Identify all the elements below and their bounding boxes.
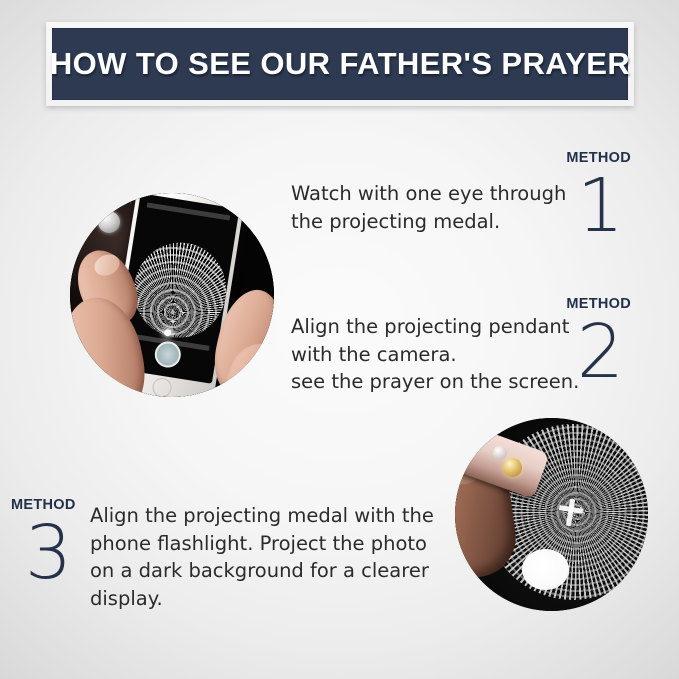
- projecting-medal-icon: [493, 446, 507, 460]
- method-3-number: 3: [25, 519, 72, 587]
- method-1-photo: [70, 193, 274, 397]
- method-1-description: Watch with one eye through the projectin…: [291, 180, 591, 235]
- camera-ui-top-bar: [147, 202, 231, 220]
- earpiece-speaker-icon: [179, 193, 205, 194]
- projecting-medal-icon: [98, 211, 120, 233]
- home-button-icon: [151, 377, 173, 397]
- method-2-description: Align the projecting pendant with the ca…: [291, 313, 609, 396]
- infographic-page: HOW TO SEE OUR FATHER'S PRAYER METHOD 1: [0, 0, 679, 679]
- prayer-text-starburst: [127, 236, 233, 344]
- gold-pendant-icon: [503, 458, 522, 477]
- header-banner: HOW TO SEE OUR FATHER'S PRAYER: [46, 22, 634, 106]
- method-3-description: Align the projecting medal with the phon…: [90, 502, 435, 613]
- page-title: HOW TO SEE OUR FATHER'S PRAYER: [50, 46, 630, 82]
- light-spot: [522, 549, 569, 590]
- method-3-photo: [455, 418, 648, 611]
- header-banner-inner: HOW TO SEE OUR FATHER'S PRAYER: [52, 28, 628, 100]
